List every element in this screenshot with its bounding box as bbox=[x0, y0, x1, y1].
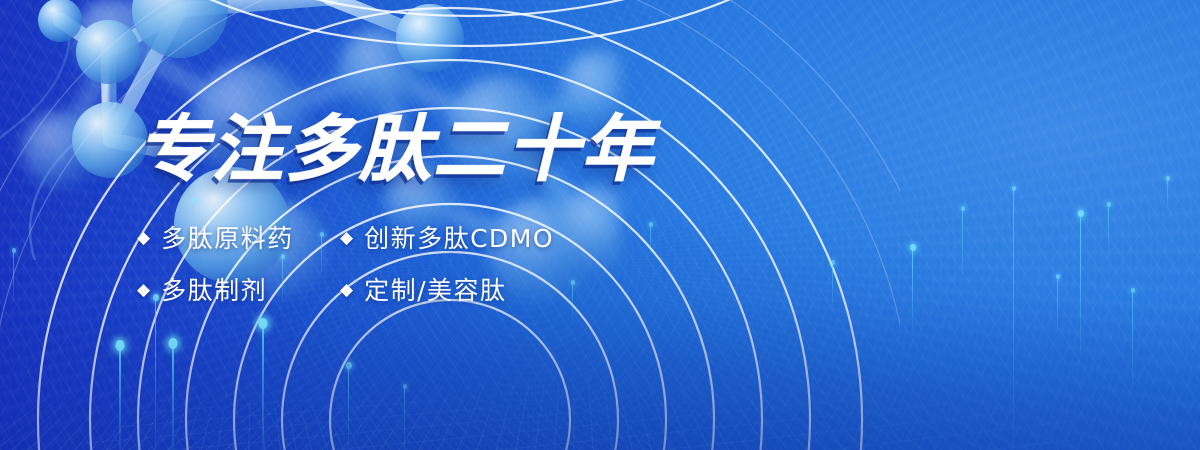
diamond-bullet-icon: ◆ bbox=[137, 281, 150, 298]
banner-content: 专注多肽二十年 ◆ 多肽原料药 ◆ 创新多肽CDMO ◆ 多肽制剂 ◆ bbox=[0, 0, 1200, 450]
banner-headline: 专注多肽二十年 bbox=[137, 113, 655, 185]
diamond-bullet-icon: ◆ bbox=[137, 229, 150, 246]
diamond-bullet-icon: ◆ bbox=[340, 229, 353, 246]
peptide-hero-banner: 专注多肽二十年 ◆ 多肽原料药 ◆ 创新多肽CDMO ◆ 多肽制剂 ◆ bbox=[0, 0, 1200, 450]
feature-item-peptide-formulation[interactable]: ◆ 多肽制剂 bbox=[137, 271, 340, 307]
feature-label: 多肽制剂 bbox=[161, 271, 267, 307]
feature-item-peptide-api[interactable]: ◆ 多肽原料药 bbox=[137, 219, 340, 255]
feature-label: 创新多肽CDMO bbox=[364, 219, 554, 255]
feature-row: ◆ 多肽制剂 ◆ 定制/美容肽 bbox=[137, 270, 607, 308]
feature-item-custom-cosmetic-peptide[interactable]: ◆ 定制/美容肽 bbox=[340, 271, 507, 307]
feature-row: ◆ 多肽原料药 ◆ 创新多肽CDMO bbox=[137, 218, 607, 256]
feature-list: ◆ 多肽原料药 ◆ 创新多肽CDMO ◆ 多肽制剂 ◆ 定制/美容肽 bbox=[137, 218, 607, 322]
diamond-bullet-icon: ◆ bbox=[340, 281, 353, 298]
feature-item-peptide-cdmo[interactable]: ◆ 创新多肽CDMO bbox=[340, 219, 554, 255]
feature-label: 多肽原料药 bbox=[161, 219, 294, 255]
feature-label: 定制/美容肽 bbox=[364, 271, 506, 307]
